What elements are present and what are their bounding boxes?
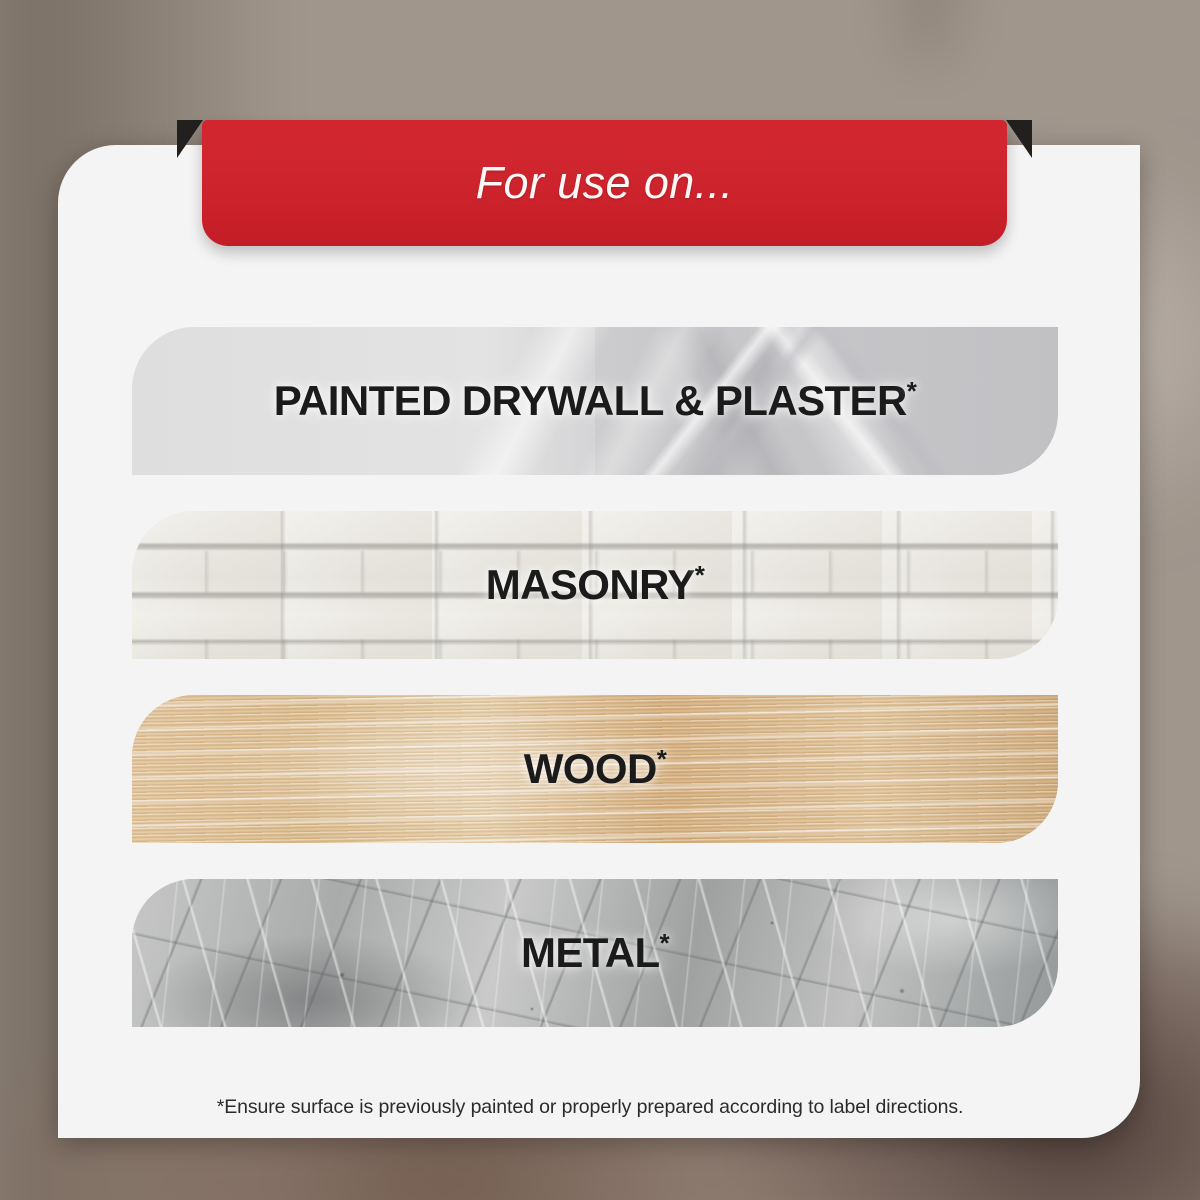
surface-label-metal: METAL* <box>521 929 669 977</box>
surface-row-wood: WOOD* <box>132 695 1058 843</box>
surface-label-text: MASONRY <box>486 561 695 608</box>
surface-label-text: METAL <box>521 929 660 976</box>
surface-row-metal: METAL* <box>132 879 1058 1027</box>
surface-row-painted-drywall-plaster: PAINTED DRYWALL & PLASTER* <box>132 327 1058 475</box>
surface-label-wood: WOOD* <box>524 745 666 793</box>
footnote-marker: * <box>657 744 667 774</box>
footnote-marker: * <box>907 376 917 406</box>
surface-label-masonry: MASONRY* <box>486 561 704 609</box>
ribbon-body: For use on... <box>202 120 1007 246</box>
ribbon-fold-right-icon <box>1006 120 1032 158</box>
banner-title: For use on... <box>476 157 734 209</box>
ribbon-fold-left-icon <box>177 120 203 158</box>
surface-row-masonry: MASONRY* <box>132 511 1058 659</box>
product-infographic: For use on... PAINTED DRYWALL & PLASTER*… <box>0 0 1200 1200</box>
footnote-text: *Ensure surface is previously painted or… <box>130 1096 1050 1119</box>
header-ribbon: For use on... <box>202 120 1007 246</box>
surface-label-text: PAINTED DRYWALL & PLASTER <box>274 377 907 424</box>
footnote-marker: * <box>695 560 705 590</box>
footnote-marker: * <box>660 928 670 958</box>
surface-list: PAINTED DRYWALL & PLASTER* MASONRY* WOOD… <box>132 327 1058 1063</box>
surface-label-painted-drywall-plaster: PAINTED DRYWALL & PLASTER* <box>274 377 916 425</box>
surface-label-text: WOOD <box>524 745 657 792</box>
